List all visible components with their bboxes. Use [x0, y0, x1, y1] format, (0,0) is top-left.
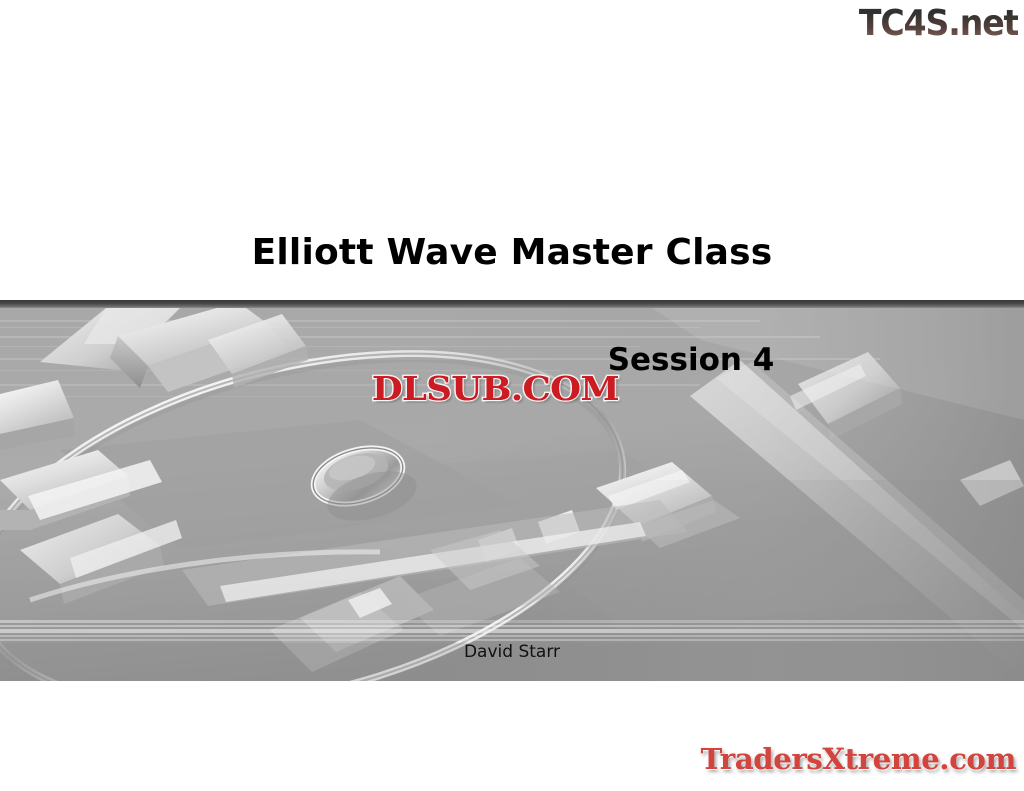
tradersxtreme-watermark: TradersXtreme.com TradersXtreme.com: [701, 741, 1016, 777]
session-label-text: Session 4: [608, 340, 775, 380]
author-name: David Starr: [0, 641, 1024, 663]
dlsub-watermark: DLSUB.COM DLSUB.COM: [372, 369, 619, 409]
tc4s-site-logo: TC4S.net: [859, 2, 1018, 46]
band-top-edge: [0, 300, 1024, 308]
slide-title: Elliott Wave Master Class: [0, 230, 1024, 276]
tradersxtreme-watermark-fill: TradersXtreme.com: [701, 741, 1016, 777]
dlsub-watermark-fill: DLSUB.COM: [372, 369, 619, 409]
presentation-slide: TC4S.net Elliott Wave Master Class: [0, 0, 1024, 791]
